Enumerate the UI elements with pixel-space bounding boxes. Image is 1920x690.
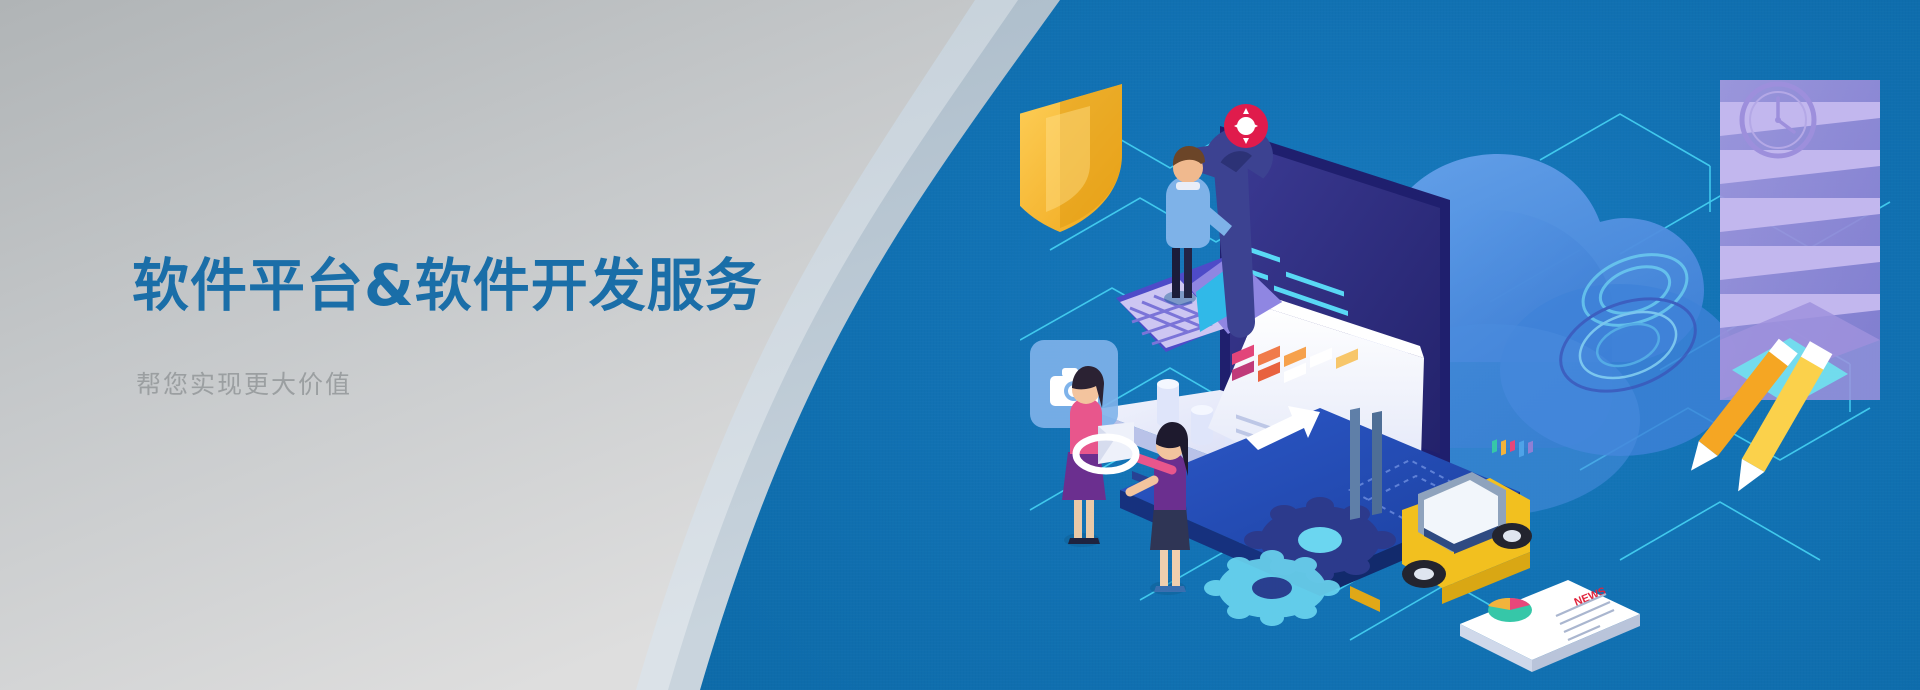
pie-chart-icon xyxy=(1488,598,1532,622)
hero-banner: NEWS xyxy=(0,0,1920,690)
hero-illustration: NEWS xyxy=(1020,40,1920,690)
gear-badge-icon xyxy=(1224,104,1268,148)
page-subtitle: 帮您实现更大价值 xyxy=(136,365,763,401)
page-title: 软件平台&软件开发服务 xyxy=(132,255,763,319)
banner-text-block: 软件平台&软件开发服务 帮您实现更大价值 xyxy=(132,255,763,401)
shield-icon xyxy=(1020,84,1122,232)
